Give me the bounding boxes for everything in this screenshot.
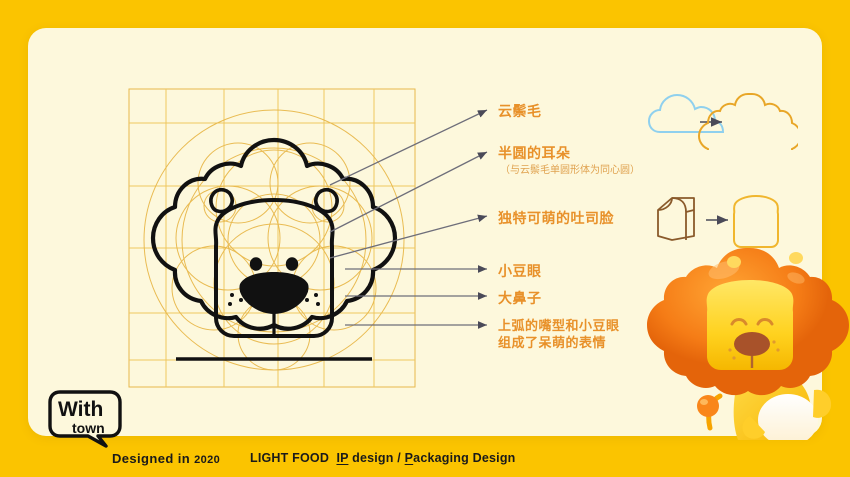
reference-cloud-to-mane: [648, 88, 798, 150]
label-expression-line2: 组成了呆萌的表情: [498, 334, 620, 351]
label-expression: 上弧的嘴型和小豆眼 组成了呆萌的表情: [498, 317, 620, 351]
mascot-face: [707, 280, 794, 370]
footer-packaging-initial: P: [405, 451, 414, 465]
footer-project-name: LIGHT FOOD: [250, 451, 329, 465]
mascot-left-mane-dot: [727, 256, 741, 268]
label-ears: 半圆的耳朵: [498, 143, 571, 163]
lion-mascot-3d: [646, 240, 850, 440]
withtown-logo[interactable]: With town: [48, 390, 126, 448]
footer-designed: Designed in 2020: [112, 451, 220, 466]
label-face: 独特可萌的吐司脸: [498, 208, 614, 228]
slide-canvas: 云鬃毛 半圆的耳朵 （与云鬃毛单圆形体为同心圆） 独特可萌的吐司脸 小豆眼 大鼻…: [0, 0, 850, 477]
mascot-tail: [697, 395, 720, 428]
mascot-nose: [734, 332, 770, 356]
logo-line2: town: [72, 420, 105, 436]
footer-packaging-rest: ackaging Design: [413, 451, 515, 465]
footer-project: LIGHT FOOD IP design / Packaging Design: [250, 451, 516, 465]
label-nose: 大鼻子: [498, 288, 542, 308]
label-ears-note: （与云鬃毛单圆形体为同心圆）: [500, 161, 640, 176]
bread-loaf-icon: [658, 198, 694, 240]
right-eye-icon: [286, 257, 298, 271]
lion-construction-diagram: [128, 88, 416, 388]
footer-designed-text: Designed in: [112, 451, 190, 466]
label-mane: 云鬃毛: [498, 101, 542, 121]
left-eye-icon: [250, 257, 262, 271]
mascot-right-mane-dot: [789, 252, 803, 264]
footer-ip-initial: IP: [336, 451, 348, 465]
footer-ip-rest: design /: [348, 451, 404, 465]
label-eyes: 小豆眼: [498, 261, 542, 281]
logo-line1: With: [58, 398, 103, 421]
mascot-right-paw: [813, 390, 831, 418]
label-expression-line1: 上弧的嘴型和小豆眼: [498, 317, 620, 334]
footer-year: 2020: [194, 454, 220, 466]
